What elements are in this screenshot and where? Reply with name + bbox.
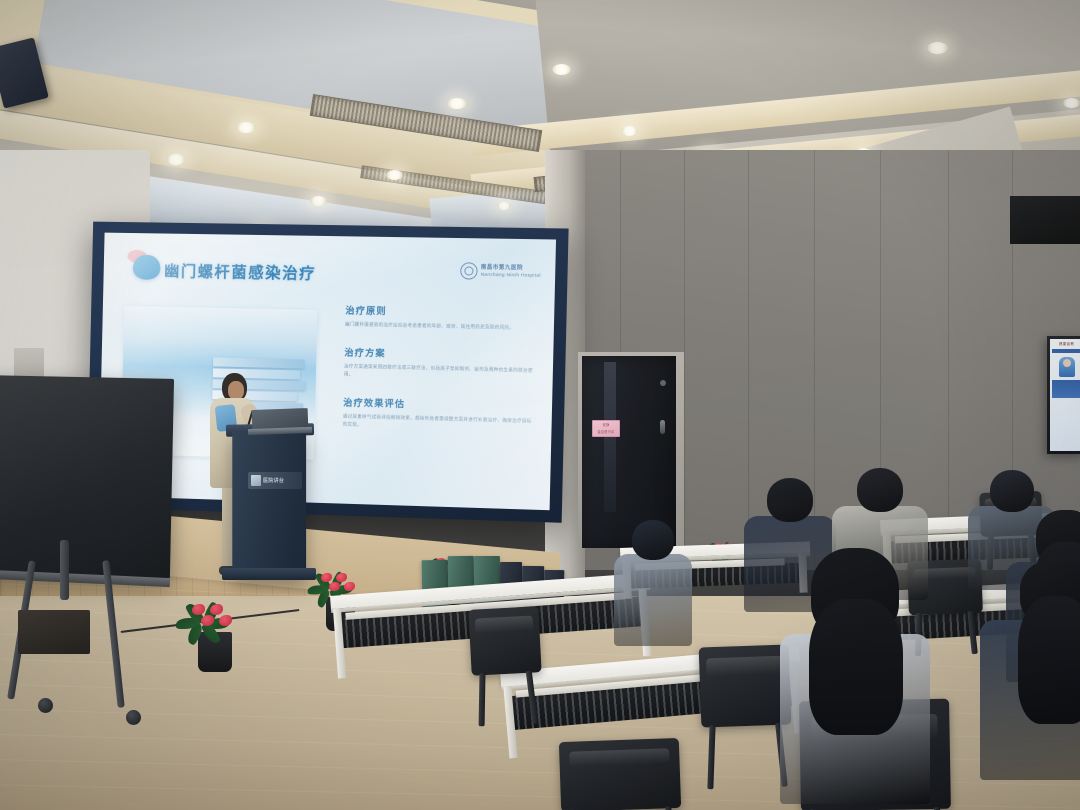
person-long-hair — [809, 599, 903, 735]
downlight-icon — [310, 196, 327, 206]
slide-title: 幽门螺杆菌感染治疗 — [164, 259, 317, 284]
downlight-icon — [447, 98, 467, 109]
slide-book-1 — [213, 357, 304, 368]
podium-logo-icon — [251, 475, 261, 486]
podium-base — [222, 568, 316, 580]
hospital-logo-text: 南昌市第九医院 Nanchang Ninth Hospital — [481, 265, 541, 279]
door-glass-strip — [604, 362, 616, 512]
person-long-hair — [1018, 596, 1080, 724]
door-hinge-icon — [660, 380, 666, 386]
slide-hospital-logo: 南昌市第九医院 Nanchang Ninth Hospital — [460, 262, 541, 281]
chair-backrest — [559, 738, 681, 810]
plant-flower — [344, 582, 355, 591]
info-display-text-block — [1052, 380, 1080, 398]
downlight-icon — [497, 202, 511, 210]
display-stand-column — [60, 540, 69, 600]
display-stand-caster-left — [38, 698, 53, 713]
chair-3[interactable] — [559, 738, 681, 810]
slide-section-body: 通过尿素呼气试验评估根除效果，根除失败者需调整方案并进行补救治疗，确保治疗目标的… — [343, 412, 536, 433]
slide-section: 治疗方案治疗方案通常采用四联疗法或三联疗法，包括质子泵抑制剂、铋剂及两种抗生素的… — [344, 344, 537, 382]
plant-flower — [321, 573, 332, 582]
hospital-name-en: Nanchang Ninth Hospital — [481, 272, 541, 278]
person-head — [857, 468, 903, 512]
plant-flower — [219, 615, 232, 626]
info-display-headline: 健康宣教 — [1050, 339, 1080, 347]
plant-flower — [192, 604, 205, 615]
wall-seam-6 — [948, 150, 949, 570]
plant-flower — [210, 604, 223, 615]
info-display-figure-head — [1063, 359, 1071, 367]
slide-section-heading: 治疗原则 — [345, 302, 538, 320]
person-attendee-navy — [980, 560, 1080, 786]
wall-info-display[interactable]: 健康宣教 — [1047, 336, 1080, 454]
slide-section-body: 治疗方案通常采用四联疗法或三联疗法，包括质子泵抑制剂、铋剂及两种抗生素的联合使用… — [344, 362, 537, 382]
chair-backrest — [468, 606, 541, 676]
slide-section-heading: 治疗方案 — [344, 344, 537, 362]
downlight-icon — [236, 122, 256, 133]
hospital-emblem-icon — [460, 262, 478, 279]
podium — [232, 430, 306, 579]
plant-1 — [186, 596, 250, 676]
wall-seam-2 — [684, 150, 685, 570]
person-head — [990, 470, 1034, 512]
podium-logo: 医院讲台 — [248, 472, 302, 489]
slide-section: 治疗效果评估通过尿素呼气试验评估根除效果，根除失败者需调整方案并进行补救治疗，确… — [343, 394, 536, 433]
door-sign: 安静 会议进行中 — [592, 420, 620, 437]
av-equipment-box — [18, 610, 90, 654]
chair-highlight — [706, 656, 782, 676]
slide-section-heading: 治疗效果评估 — [343, 394, 536, 413]
downlight-icon — [621, 126, 638, 136]
person-head — [632, 520, 674, 560]
info-display-screen: 健康宣教 — [1050, 339, 1080, 451]
slide-section: 治疗原则幽门螺杆菌感染的治疗应综合考虑患者的年龄、症状、既往用药史及耐药风险。 — [345, 302, 538, 332]
chair-1[interactable] — [468, 606, 541, 676]
podium-logo-text: 医院讲台 — [263, 477, 284, 484]
chair-2[interactable] — [699, 644, 792, 727]
lecture-hall-photo: 健康宣教 幽门螺杆菌感染治疗 南昌市第九医院 Nanchang Ninth Ho… — [0, 0, 1080, 810]
wall-monitor-upper-right — [1010, 196, 1080, 244]
downlight-icon — [386, 170, 403, 180]
slide-section-body: 幽门螺杆菌感染的治疗应综合考虑患者的年龄、症状、既往用药史及耐药风险。 — [345, 320, 538, 332]
chair-highlight — [474, 616, 533, 634]
slide-text-column: 治疗原则幽门螺杆菌感染的治疗应综合考虑患者的年龄、症状、既往用药史及耐药风险。治… — [342, 302, 538, 449]
door-handle[interactable] — [660, 420, 665, 434]
slide-accent-blob-icon — [133, 255, 161, 280]
chair-backrest — [699, 644, 792, 727]
person-head — [767, 478, 813, 522]
chair-leg-left — [479, 673, 486, 726]
plant-flower — [336, 573, 347, 582]
person-torso — [614, 554, 692, 646]
person-attendee-cap-left — [614, 520, 692, 652]
door-sign-line1: 安静 — [593, 421, 619, 428]
person-attendee-longhair — [780, 548, 930, 810]
downlight-icon — [552, 64, 571, 75]
info-display-bar — [1052, 349, 1080, 353]
info-display-figure — [1059, 357, 1075, 377]
downlight-icon — [927, 42, 948, 54]
mobile-display-screen[interactable] — [0, 375, 174, 579]
display-stand-caster-right — [126, 710, 141, 725]
downlight-icon — [166, 154, 186, 165]
chair-highlight — [569, 748, 670, 767]
door-sign-line2: 会议进行中 — [593, 428, 619, 435]
downlight-icon — [1063, 98, 1080, 108]
